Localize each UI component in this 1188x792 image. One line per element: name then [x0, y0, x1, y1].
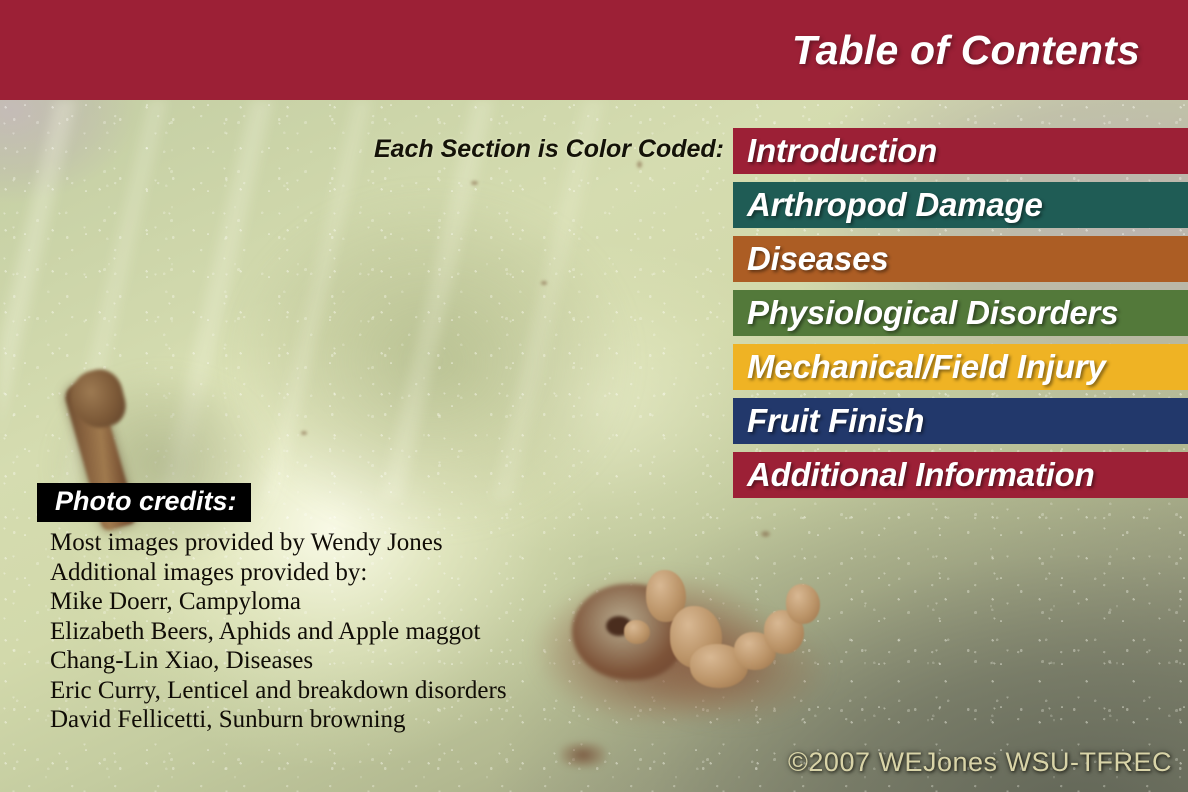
credit-line: Chang-Lin Xiao, Diseases — [50, 646, 507, 676]
header-bar: Table of Contents — [0, 0, 1188, 100]
skin-spot — [760, 530, 771, 538]
credit-line: Additional images provided by: — [50, 558, 507, 588]
photo-credits-heading: Photo credits: — [37, 483, 251, 522]
section-bar-fruit-finish[interactable]: Fruit Finish — [733, 398, 1188, 444]
skin-spot — [540, 280, 548, 286]
section-bar-additional-information[interactable]: Additional Information — [733, 452, 1188, 498]
section-label: Additional Information — [733, 456, 1095, 494]
credit-line: David Fellicetti, Sunburn browning — [50, 705, 507, 735]
section-label: Introduction — [733, 132, 937, 170]
photo-credits-list: Most images provided by Wendy Jones Addi… — [50, 528, 507, 735]
section-label: Diseases — [733, 240, 889, 278]
credit-line: Elizabeth Beers, Aphids and Apple maggot — [50, 617, 507, 647]
copyright-notice: ©2007 WEJones WSU-TFREC — [788, 747, 1172, 778]
skin-spot — [470, 180, 479, 186]
section-bar-physiological-disorders[interactable]: Physiological Disorders — [733, 290, 1188, 336]
blemish-small-spot — [560, 742, 606, 768]
skin-spot — [300, 430, 308, 436]
section-bar-diseases[interactable]: Diseases — [733, 236, 1188, 282]
frass-clump — [786, 584, 820, 624]
credit-line: Eric Curry, Lenticel and breakdown disor… — [50, 676, 507, 706]
section-bar-arthropod-damage[interactable]: Arthropod Damage — [733, 182, 1188, 228]
page-title: Table of Contents — [792, 27, 1188, 74]
frass-clump — [624, 620, 650, 644]
section-label: Arthropod Damage — [733, 186, 1043, 224]
section-bar-mechanical-field-injury[interactable]: Mechanical/Field Injury — [733, 344, 1188, 390]
credit-line: Mike Doerr, Campyloma — [50, 587, 507, 617]
photo-credits-heading-text: Photo credits: — [55, 486, 237, 516]
section-label: Fruit Finish — [733, 402, 924, 440]
color-coded-caption: Each Section is Color Coded: — [374, 135, 724, 164]
credit-line: Most images provided by Wendy Jones — [50, 528, 507, 558]
section-label: Physiological Disorders — [733, 294, 1118, 332]
slide-table-of-contents: Table of Contents Each Section is Color … — [0, 0, 1188, 792]
section-bar-introduction[interactable]: Introduction — [733, 128, 1188, 174]
section-label: Mechanical/Field Injury — [733, 348, 1106, 386]
section-bar-list: Introduction Arthropod Damage Diseases P… — [733, 128, 1188, 506]
